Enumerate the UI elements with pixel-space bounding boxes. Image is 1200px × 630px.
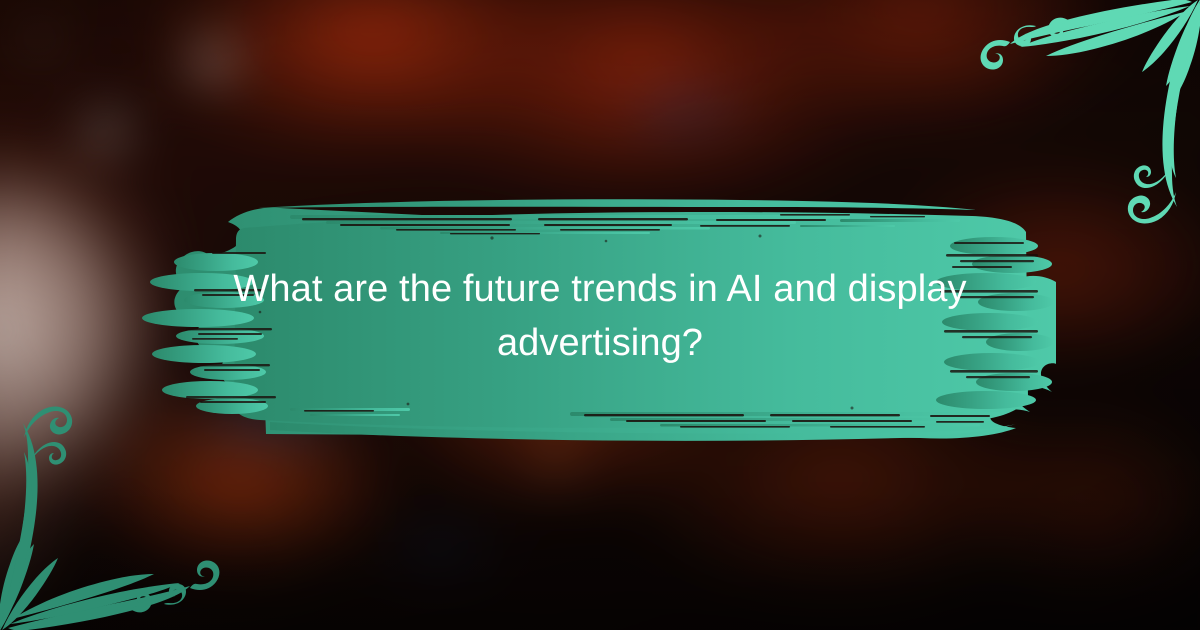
banner-card: What are the future trends in AI and dis… — [0, 0, 1200, 630]
headline-text: What are the future trends in AI and dis… — [186, 262, 1014, 370]
headline-line-1: What are the future trends in AI and dis… — [186, 262, 1014, 316]
headline-line-2: advertising? — [186, 316, 1014, 370]
